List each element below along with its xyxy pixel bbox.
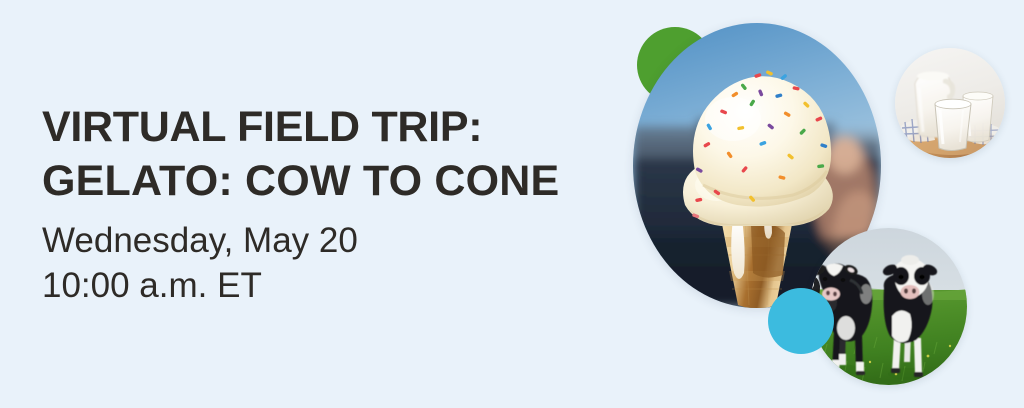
virtual-field-trip-banner: VIRTUAL FIELD TRIP: GELATO: COW TO CONE … xyxy=(0,0,1024,408)
event-date: Wednesday, May 20 xyxy=(42,218,632,263)
headline-line-1: VIRTUAL FIELD TRIP: xyxy=(42,100,632,154)
image-collage xyxy=(620,0,1024,408)
event-details: Wednesday, May 20 10:00 a.m. ET xyxy=(42,218,632,308)
event-time: 10:00 a.m. ET xyxy=(42,263,632,308)
holstein-cows-photo xyxy=(810,228,967,385)
banner-text-block: VIRTUAL FIELD TRIP: GELATO: COW TO CONE … xyxy=(42,100,632,308)
headline-line-2: GELATO: COW TO CONE xyxy=(42,154,632,208)
milk-glasses-photo xyxy=(895,48,1005,158)
cyan-accent-circle xyxy=(768,288,834,354)
